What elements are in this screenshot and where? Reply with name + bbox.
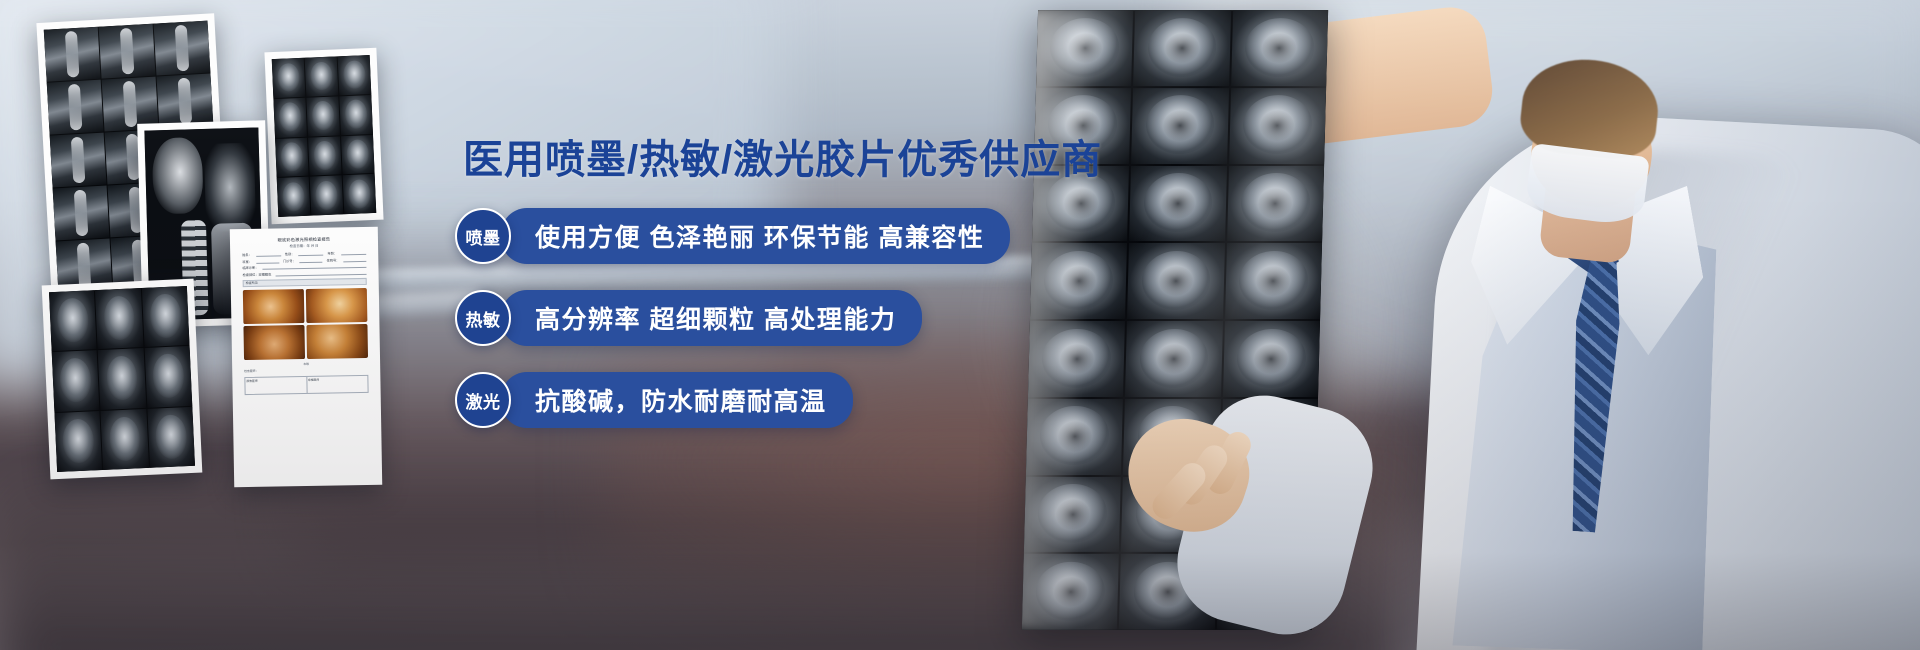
report-field-site: 检查部位：双眼眼底 [243,271,272,276]
report-fields: 姓名：性别：年龄： 科室：门诊号：住院号： 临床诊断： 检查部位：双眼眼底 [242,250,366,277]
report-footer-cell: 审核医师 [307,376,368,393]
xray-film-brain-sheet-top [264,48,383,225]
report-field-inpatient: 住院号： [327,257,340,262]
film-image-area [272,55,377,217]
feature-row-laser: 激光 抗酸碱，防水耐磨耐高温 [455,372,1155,428]
fundus-photo [243,289,305,324]
feature-badge-thermal: 热敏 [455,290,511,346]
page-title: 医用喷墨/热敏/激光胶片优秀供应商 [463,138,1155,182]
report-section-band: 检查所见 [243,278,367,287]
report-note: 检查医师： [244,367,368,373]
feature-badge-laser: 激光 [455,372,511,428]
feature-row-thermal: 热敏 高分辨率 超细颗粒 高处理能力 [455,290,1155,346]
feature-badge-inkjet: 喷墨 [455,208,511,264]
medical-report-sheet: 眼底彩色激光照相检查报告 检查日期：年 月 日 姓名：性别：年龄： 科室：门诊号… [230,227,382,488]
report-subtitle: 检查日期：年 月 日 [236,242,372,249]
mri-slice-grid [49,286,195,472]
report-footer-cell: 报告医师 [245,377,307,394]
feature-text-inkjet: 使用方便 色泽艳丽 环保节能 高兼容性 [501,208,1010,264]
fundus-photo [306,288,368,323]
film-collage: 眼底彩色激光照相检查报告 检查日期：年 月 日 姓名：性别：年龄： 科室：门诊号… [0,0,430,520]
banner-content: 医用喷墨/热敏/激光胶片优秀供应商 喷墨 使用方便 色泽艳丽 环保节能 高兼容性… [455,138,1155,428]
mri-slice-grid [272,55,377,217]
feature-row-inkjet: 喷墨 使用方便 色泽艳丽 环保节能 高兼容性 [455,208,1155,264]
film-image-area [49,286,195,472]
doctor-photo [1120,0,1920,650]
report-footer: 报告医师 审核医师 [244,375,368,395]
report-field-sex: 性别： [285,251,295,256]
report-field-name: 姓名： [242,252,252,257]
feature-text-thermal: 高分辨率 超细颗粒 高处理能力 [501,290,922,346]
hero-banner: 眼底彩色激光照相检查报告 检查日期：年 月 日 姓名：性别：年龄： 科室：门诊号… [0,0,1920,650]
report-field-diagnosis: 临床诊断： [242,265,258,270]
feature-text-laser: 抗酸碱，防水耐磨耐高温 [501,372,853,428]
xray-film-brain-sheet-bottom [42,279,203,480]
report-body: 眼底彩色激光照相检查报告 检查日期：年 月 日 姓名：性别：年龄： 科室：门诊号… [236,233,376,481]
report-fundus-images [243,288,368,360]
report-field-outpatient: 门诊号： [283,258,296,263]
fundus-photo [306,324,368,359]
report-field-dept: 科室： [242,259,252,264]
feature-list: 喷墨 使用方便 色泽艳丽 环保节能 高兼容性 热敏 高分辨率 超细颗粒 高处理能… [455,208,1155,428]
fundus-photo [243,325,305,360]
report-field-age: 年龄： [327,251,337,256]
